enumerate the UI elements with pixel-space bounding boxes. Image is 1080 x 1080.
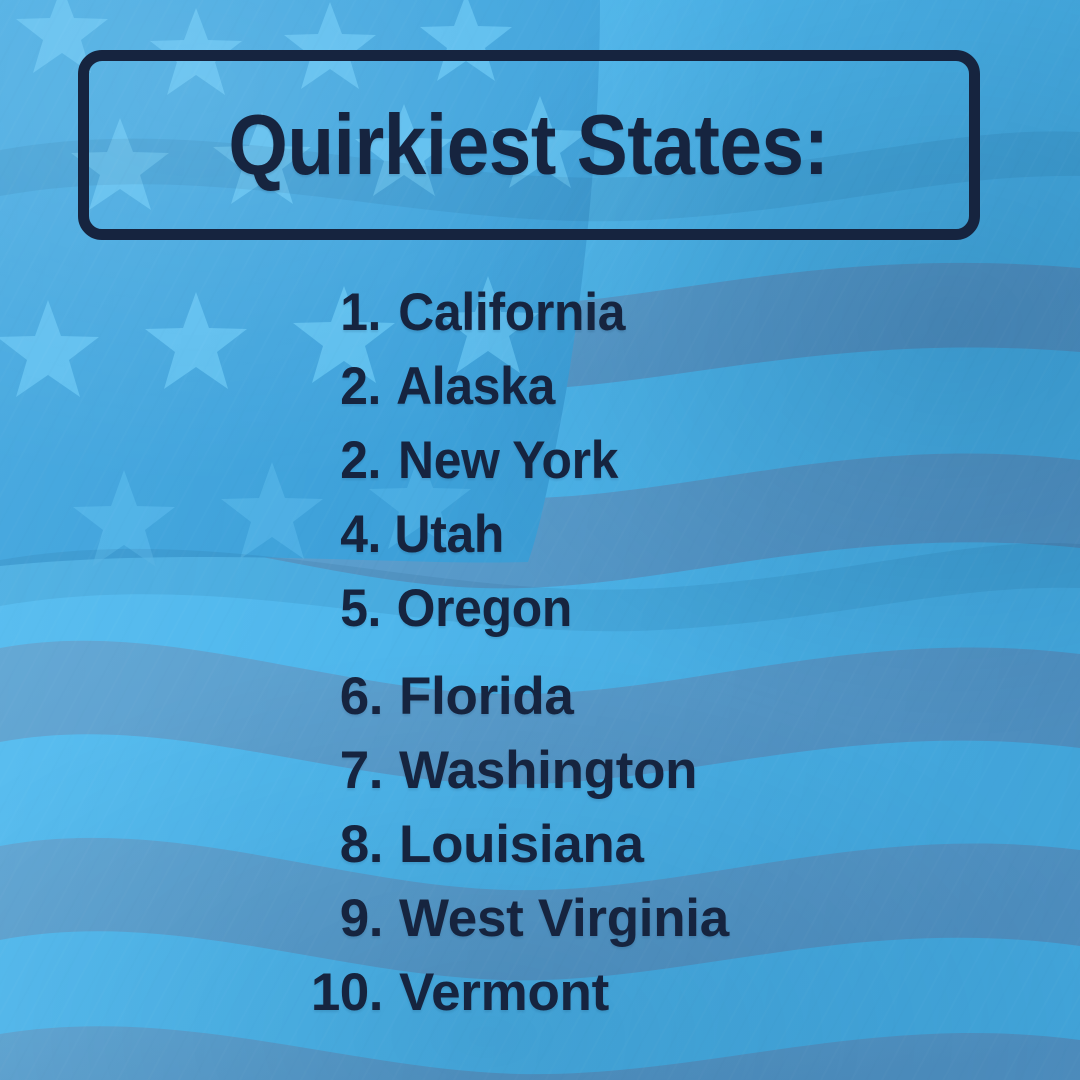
list-item: 4. Utah xyxy=(0,508,1080,582)
list-item: 8. Louisiana xyxy=(0,818,1080,892)
list-item-label: Florida xyxy=(399,670,574,723)
list-item: 6. Florida xyxy=(0,670,1080,744)
list-item-number: 4. xyxy=(308,508,387,561)
list-item-number: 1. xyxy=(308,286,387,339)
list-item-label: Utah xyxy=(394,508,504,561)
list-item: 10. Vermont xyxy=(0,966,1080,1040)
list-item-label: Louisiana xyxy=(399,818,644,871)
list-item: 1. California xyxy=(0,286,1080,360)
title-frame: Quirkiest States: xyxy=(78,50,980,240)
poster-content: Quirkiest States: 1. California 2. Alask… xyxy=(0,0,1080,1080)
states-ranked-list: 1. California 2. Alaska 2. New York 4. U… xyxy=(0,286,1080,1040)
list-item-number: 8. xyxy=(305,818,399,871)
list-item: 2. New York xyxy=(0,434,1080,508)
list-item-number: 5. xyxy=(308,582,387,635)
list-item: 7. Washington xyxy=(0,744,1080,818)
list-item: 2. Alaska xyxy=(0,360,1080,434)
list-item-number: 10. xyxy=(305,966,399,1019)
list-item-number: 2. xyxy=(308,434,387,487)
list-item: 5. Oregon xyxy=(0,582,1080,656)
list-item-number: 2. xyxy=(308,360,387,413)
list-item-label: West Virginia xyxy=(399,892,729,945)
list-item-label: California xyxy=(398,286,625,339)
list-item-label: Vermont xyxy=(399,966,609,1019)
list-item: 9. West Virginia xyxy=(0,892,1080,966)
list-item-number: 7. xyxy=(305,744,399,797)
page-title: Quirkiest States: xyxy=(229,103,829,188)
list-item-number: 6. xyxy=(305,670,399,723)
poster-canvas: Quirkiest States: 1. California 2. Alask… xyxy=(0,0,1080,1080)
list-item-label: New York xyxy=(398,434,618,487)
list-item-number: 9. xyxy=(305,892,399,945)
list-item-label: Oregon xyxy=(397,582,572,635)
list-item-label: Washington xyxy=(399,744,697,797)
list-item-label: Alaska xyxy=(396,360,555,413)
